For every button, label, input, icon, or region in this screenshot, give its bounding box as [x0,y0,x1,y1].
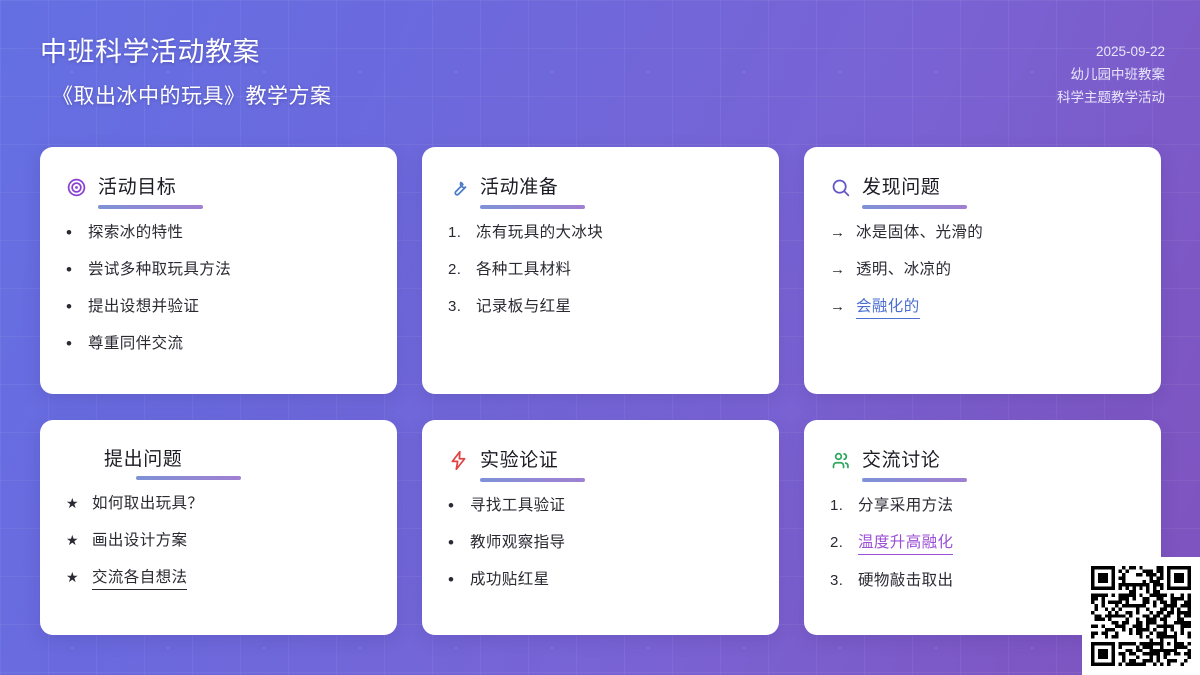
list-item-text: 分享采用方法 [858,496,953,517]
card-activity-goals[interactable]: 活动目标•探索冰的特性•尝试多种取玩具方法•提出设想并验证•尊重同伴交流 [40,147,397,394]
list-item[interactable]: →冰是固体、光滑的 [830,223,1135,244]
card-header: 活动准备 [448,177,753,198]
cards-grid: 活动目标•探索冰的特性•尝试多种取玩具方法•提出设想并验证•尊重同伴交流活动准备… [40,147,1160,635]
title-underline [480,478,585,482]
list-item-text: 记录板与红星 [476,297,571,318]
list-item[interactable]: 3.记录板与红星 [448,297,753,318]
slide-header: 中班科学活动教案 《取出冰中的玩具》教学方案 2025-09-22 幼儿园中班教… [0,0,1200,140]
card-header: 提出问题 [66,450,371,469]
title-underline [136,476,241,480]
card-item-list: 1.冻有玩具的大冰块2.各种工具材料3.记录板与红星 [448,223,753,318]
list-marker: 1. [830,496,849,516]
list-item-text: 提出设想并验证 [88,297,199,318]
list-marker: • [448,497,461,514]
card-item-list: →冰是固体、光滑的→透明、冰凉的→会融化的 [830,223,1135,319]
list-item[interactable]: •成功贴红星 [448,570,753,591]
list-item-text: 尊重同伴交流 [88,334,183,355]
list-item-text: 硬物敲击取出 [858,571,953,592]
card-activity-preparation[interactable]: 活动准备1.冻有玩具的大冰块2.各种工具材料3.记录板与红星 [422,147,779,394]
list-item-text: 探索冰的特性 [88,223,183,244]
card-title: 提出问题 [104,450,182,469]
list-item-text: 会融化的 [856,297,920,319]
list-item[interactable]: 1.冻有玩具的大冰块 [448,223,753,244]
list-item[interactable]: •探索冰的特性 [66,223,371,244]
title-underline [480,205,585,209]
header-meta-line-1: 幼儿园中班教案 [1057,63,1165,86]
list-item-text: 冻有玩具的大冰块 [476,223,603,244]
wrench-icon [448,177,469,198]
list-item[interactable]: •提出设想并验证 [66,297,371,318]
list-marker: • [66,224,79,241]
header-left-block: 中班科学活动教案 《取出冰中的玩具》教学方案 [40,36,332,110]
card-discover-problem[interactable]: 发现问题→冰是固体、光滑的→透明、冰凉的→会融化的 [804,147,1161,394]
list-marker: • [66,335,79,352]
list-item[interactable]: ★交流各自想法 [66,568,371,590]
list-item-text: 寻找工具验证 [470,496,565,517]
list-item-text: 成功贴红星 [470,570,550,591]
card-title: 交流讨论 [862,451,940,470]
card-title: 实验论证 [480,451,558,470]
search-icon [830,177,851,198]
title-underline [862,478,967,482]
list-item-text: 教师观察指导 [470,533,565,554]
list-marker: 3. [830,571,849,591]
bolt-icon [448,450,469,471]
list-item-text: 透明、冰凉的 [856,260,951,281]
list-marker: 2. [830,533,849,553]
list-item[interactable]: →会融化的 [830,297,1135,319]
card-item-list: ★如何取出玩具？★画出设计方案★交流各自想法 [66,494,371,590]
list-item[interactable]: •寻找工具验证 [448,496,753,517]
list-marker: ★ [66,494,83,513]
card-header: 发现问题 [830,177,1135,198]
title-underline [862,205,967,209]
list-item-text: 如何取出玩具？ [92,494,203,515]
list-marker: • [448,534,461,551]
header-date: 2025-09-22 [1057,40,1165,63]
card-item-list: •寻找工具验证•教师观察指导•成功贴红星 [448,496,753,591]
card-title: 发现问题 [862,178,940,197]
list-item-text: 画出设计方案 [92,531,187,552]
list-item[interactable]: ★画出设计方案 [66,531,371,552]
users-icon [830,450,851,471]
header-meta-line-2: 科学主题教学活动 [1057,86,1165,109]
list-item-text: 交流各自想法 [92,568,187,590]
page-subtitle: 《取出冰中的玩具》教学方案 [52,80,332,110]
page-title: 中班科学活动教案 [40,36,332,70]
card-header: 活动目标 [66,177,371,198]
list-item-text: 尝试多种取玩具方法 [88,260,231,281]
card-experiment-proof[interactable]: 实验论证•寻找工具验证•教师观察指导•成功贴红星 [422,420,779,635]
card-raise-question[interactable]: 提出问题★如何取出玩具？★画出设计方案★交流各自想法 [40,420,397,635]
list-marker: • [448,571,461,588]
list-item[interactable]: →透明、冰凉的 [830,260,1135,281]
target-icon [66,177,87,198]
card-header: 交流讨论 [830,450,1135,471]
title-underline [98,205,203,209]
list-marker: • [66,261,79,278]
card-header: 实验论证 [448,450,753,471]
qr-code-image [1091,566,1191,666]
card-title: 活动目标 [98,178,176,197]
qr-code[interactable] [1082,557,1200,675]
list-item[interactable]: •尝试多种取玩具方法 [66,260,371,281]
list-marker: → [830,223,847,243]
list-marker: 2. [448,260,467,280]
list-marker: 3. [448,297,467,317]
card-item-list: •探索冰的特性•尝试多种取玩具方法•提出设想并验证•尊重同伴交流 [66,223,371,355]
list-marker: → [830,297,847,317]
list-item[interactable]: 1.分享采用方法 [830,496,1135,517]
list-item-text: 温度升高融化 [858,533,953,555]
list-marker: • [66,298,79,315]
list-item-text: 各种工具材料 [476,260,571,281]
card-title: 活动准备 [480,178,558,197]
header-meta-block: 2025-09-22 幼儿园中班教案 科学主题教学活动 [1057,40,1165,110]
list-item[interactable]: •教师观察指导 [448,533,753,554]
list-item[interactable]: •尊重同伴交流 [66,334,371,355]
list-item-text: 冰是固体、光滑的 [856,223,983,244]
list-item[interactable]: 2.温度升高融化 [830,533,1135,555]
list-marker: 1. [448,223,467,243]
slide-canvas: 中班科学活动教案 《取出冰中的玩具》教学方案 2025-09-22 幼儿园中班教… [0,0,1200,675]
list-item[interactable]: ★如何取出玩具？ [66,494,371,515]
list-marker: ★ [66,531,83,550]
list-marker: → [830,260,847,280]
list-marker: ★ [66,568,83,587]
list-item[interactable]: 2.各种工具材料 [448,260,753,281]
